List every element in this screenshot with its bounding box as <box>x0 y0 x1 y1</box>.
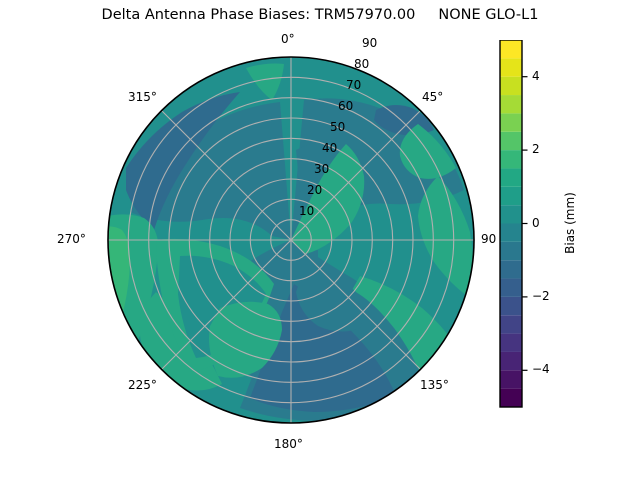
colorbar-tick-label-zero: 0 <box>532 216 540 230</box>
colorbar-tick-label-2: 2 <box>532 142 540 156</box>
azimuth-label-270: 270° <box>57 232 86 246</box>
colorbar-swatches <box>500 40 522 407</box>
radial-label-60: 60 <box>338 99 353 113</box>
colorbar-axis-label: Bias (mm) <box>563 183 577 263</box>
figure-canvas: Delta Antenna Phase Biases: TRM57970.00 … <box>0 0 640 480</box>
contour-band-positive-w3 <box>88 259 113 324</box>
colorbar-tick-label-minus2: −2 <box>532 289 550 303</box>
radial-label-70: 70 <box>346 78 361 92</box>
page-title: Delta Antenna Phase Biases: TRM57970.00 … <box>0 7 640 23</box>
colorbar[interactable]: −4 −2 0 2 4 Bias (mm) <box>490 40 640 440</box>
polar-contour-svg <box>60 40 480 460</box>
radial-label-30: 30 <box>314 162 329 176</box>
azimuth-label-180: 180° <box>274 437 303 451</box>
radial-label-20: 20 <box>307 183 322 197</box>
radial-label-90: 90 <box>362 36 377 50</box>
colorbar-tick-label-minus4: −4 <box>532 362 550 376</box>
angular-grid <box>108 57 474 423</box>
contour-band-positive-w2 <box>89 226 130 348</box>
radial-label-10: 10 <box>299 204 314 218</box>
radial-label-50: 50 <box>330 120 345 134</box>
radial-label-40: 40 <box>322 141 337 155</box>
azimuth-label-225: 225° <box>128 378 157 392</box>
colorbar-ticks <box>522 77 528 371</box>
radial-label-80: 80 <box>354 57 369 71</box>
polar-plot[interactable]: 0° 45° 90 135° 180° 225° 270° 315° 10 20… <box>60 40 480 460</box>
azimuth-label-135: 135° <box>420 378 449 392</box>
azimuth-label-45: 45° <box>422 90 443 104</box>
azimuth-label-315: 315° <box>128 90 157 104</box>
colorbar-tick-label-4: 4 <box>532 69 540 83</box>
azimuth-label-0: 0° <box>281 32 295 46</box>
